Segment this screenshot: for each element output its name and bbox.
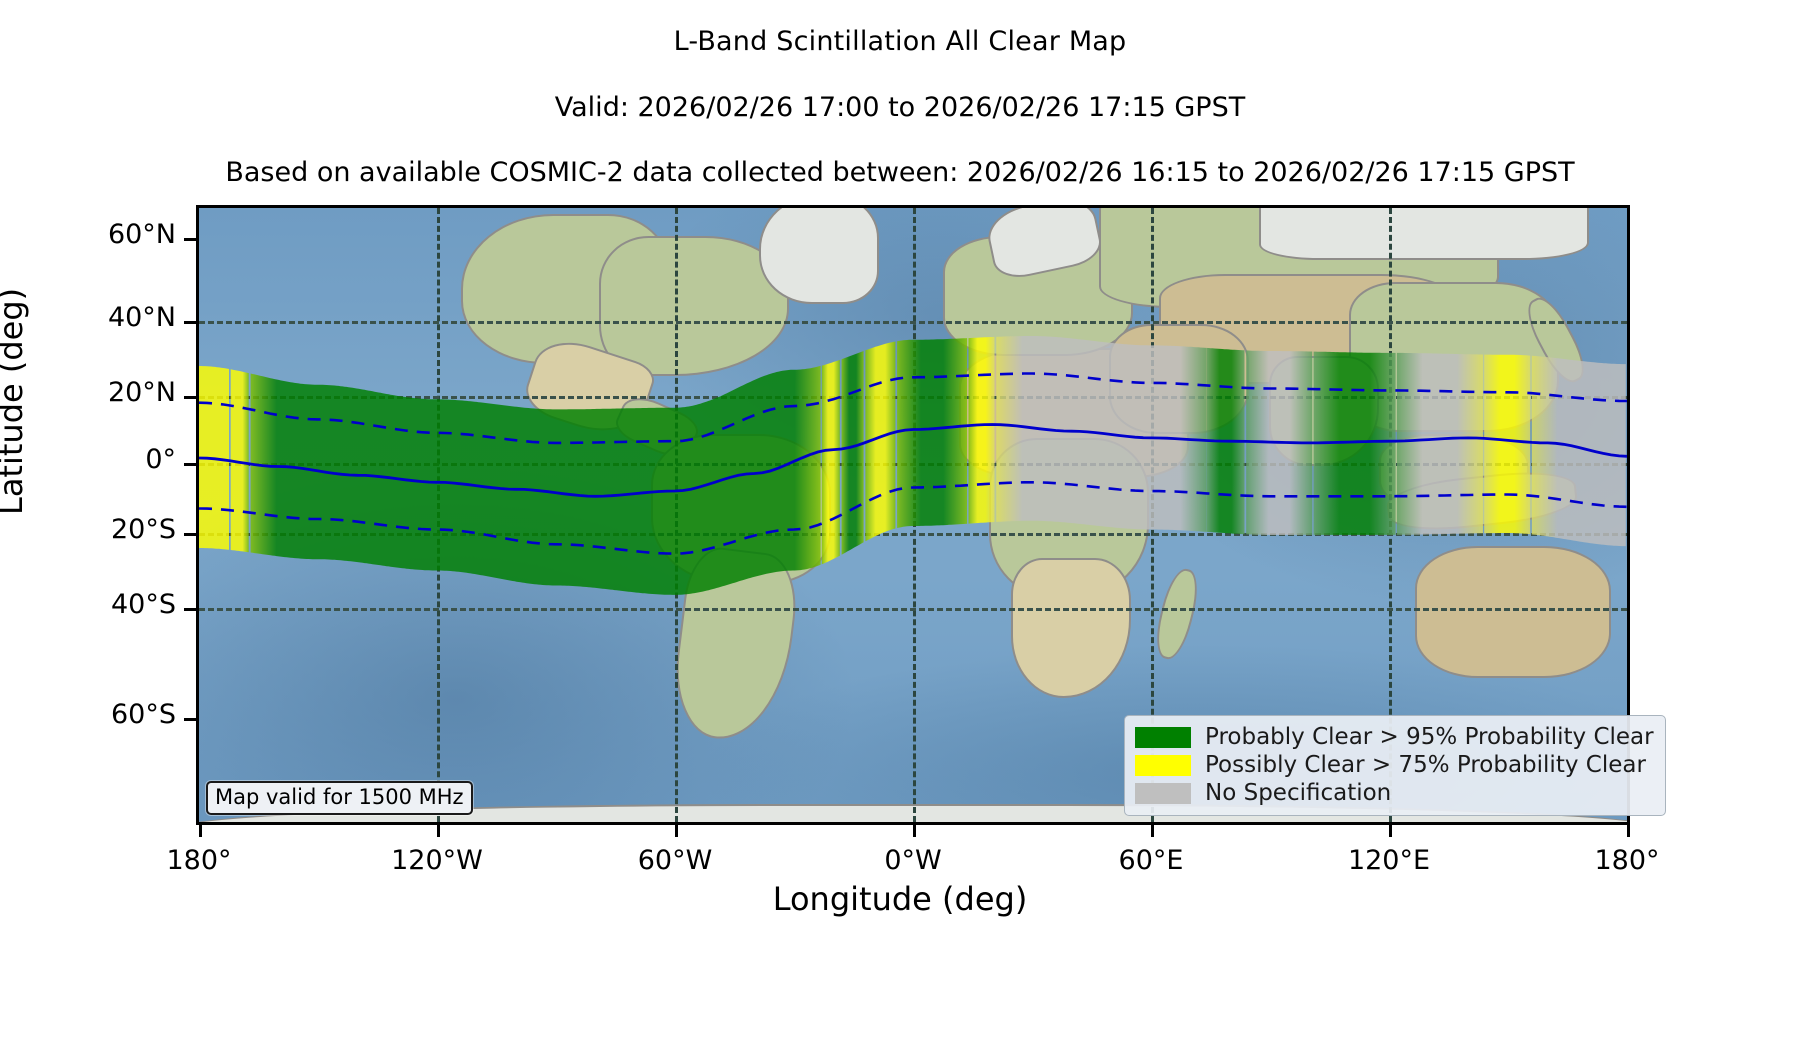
y-tick-20 <box>184 396 196 399</box>
magnetic-equator-solid-line <box>199 425 1627 497</box>
x-tick-label-1: 120°W <box>347 845 527 876</box>
frequency-annotation: Map valid for 1500 MHz <box>206 781 473 815</box>
page-title: L-Band Scintillation All Clear Map <box>0 26 1800 57</box>
x-axis-title: Longitude (deg) <box>0 880 1800 918</box>
y-tick-40 <box>184 321 196 324</box>
x-tick-0 <box>199 825 202 837</box>
x-tick-6 <box>1627 825 1630 837</box>
y-tick-0 <box>184 463 196 466</box>
y-tick--40 <box>184 608 196 611</box>
y-tick--60 <box>184 718 196 721</box>
legend-label-probably-clear: Probably Clear > 95% Probability Clear <box>1205 724 1654 750</box>
legend-label-no-specification: No Specification <box>1205 780 1391 806</box>
y-tick-label-20: 20°N <box>6 377 176 408</box>
x-tick-2 <box>675 825 678 837</box>
y-tick-60 <box>184 238 196 241</box>
legend-item-probably-clear: Probably Clear > 95% Probability Clear <box>1135 723 1654 751</box>
chart-titles: L-Band Scintillation All Clear Map Valid… <box>0 0 1800 188</box>
y-tick-label-0: 0° <box>6 444 176 475</box>
y-tick-label-60: 60°N <box>6 219 176 250</box>
legend-swatch-possibly-clear <box>1135 755 1191 776</box>
x-tick-1 <box>437 825 440 837</box>
equator-lower-bound-line <box>199 482 1627 553</box>
data-source-note: Based on available COSMIC-2 data collect… <box>0 157 1800 188</box>
legend-swatch-probably-clear <box>1135 727 1191 748</box>
legend-swatch-no-specification <box>1135 783 1191 804</box>
x-tick-label-6: 180° <box>1537 845 1717 876</box>
x-tick-label-5: 120°E <box>1299 845 1479 876</box>
x-tick-3 <box>913 825 916 837</box>
x-tick-5 <box>1389 825 1392 837</box>
map-legend: Probably Clear > 95% Probability Clear P… <box>1124 715 1666 816</box>
y-tick--20 <box>184 533 196 536</box>
x-tick-label-2: 60°W <box>585 845 765 876</box>
x-tick-4 <box>1151 825 1154 837</box>
legend-item-possibly-clear: Possibly Clear > 75% Probability Clear <box>1135 751 1654 779</box>
legend-item-no-specification: No Specification <box>1135 779 1654 807</box>
y-tick-label--20: 20°S <box>6 514 176 545</box>
legend-label-possibly-clear: Possibly Clear > 75% Probability Clear <box>1205 752 1646 778</box>
x-tick-label-3: 0°W <box>823 845 1003 876</box>
y-tick-label-40: 40°N <box>6 302 176 333</box>
validity-subtitle: Valid: 2026/02/26 17:00 to 2026/02/26 17… <box>0 92 1800 123</box>
y-tick-label--60: 60°S <box>6 699 176 730</box>
equator-upper-bound-line <box>199 374 1627 443</box>
y-tick-label--40: 40°S <box>6 589 176 620</box>
x-tick-label-4: 60°E <box>1061 845 1241 876</box>
x-tick-label-0: 180° <box>109 845 289 876</box>
